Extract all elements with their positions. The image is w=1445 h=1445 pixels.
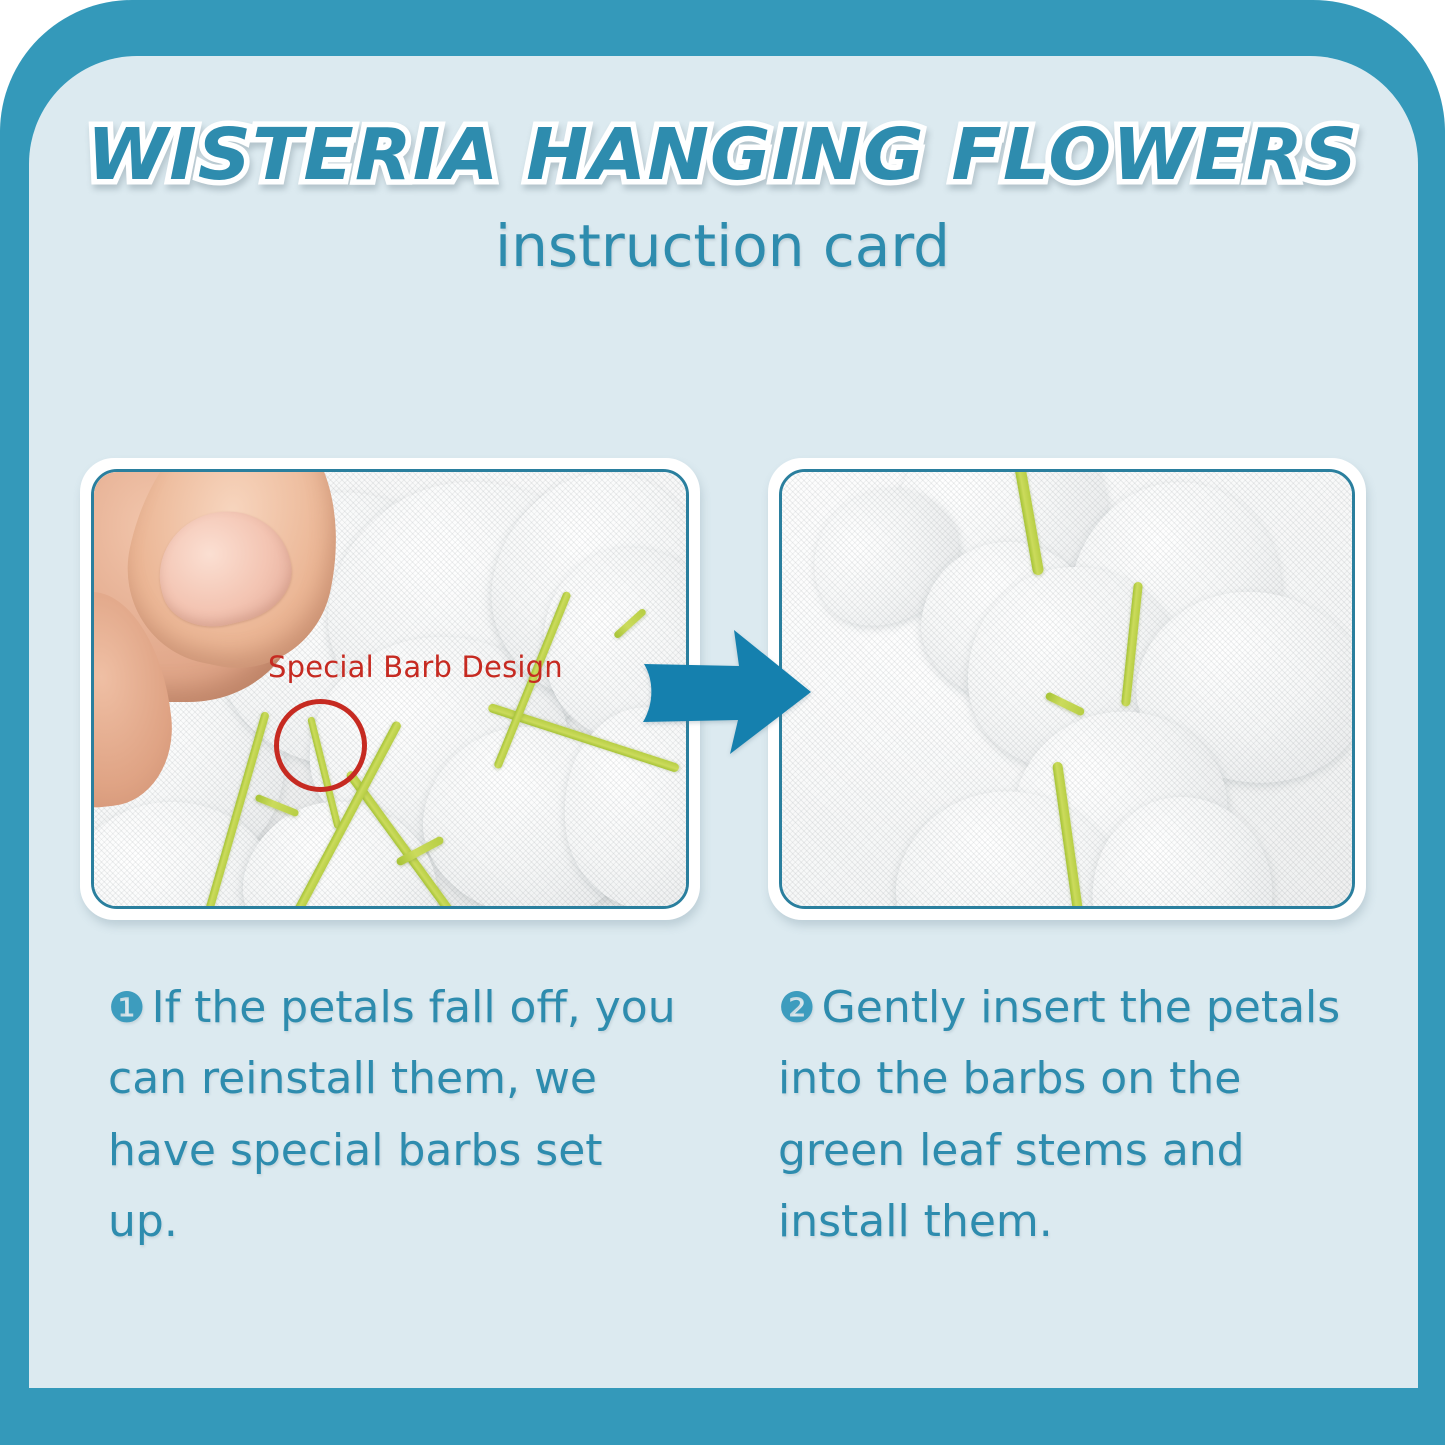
instruction-step-1: ❶If the petals fall off, you can reinsta… (108, 972, 678, 1257)
page-title: Wisteria Hanging Flowers (0, 118, 1445, 193)
photo-installed-petals-image (779, 469, 1355, 909)
card-header: Wisteria Hanging Flowers instruction car… (0, 118, 1445, 278)
step-text-2: Gently insert the petals into the barbs … (778, 982, 1340, 1247)
step-number-badge-2: ❷ (778, 983, 816, 1032)
instruction-card: Wisteria Hanging Flowers instruction car… (0, 0, 1445, 1445)
photo-barb-closeup-image: Special Barb Design (91, 469, 689, 909)
photo-installed-petals (768, 458, 1366, 920)
barb-highlight-circle (274, 699, 367, 792)
right-arrow-icon (640, 628, 815, 756)
photo-barb-closeup: Special Barb Design (80, 458, 700, 920)
step-number-badge-1: ❶ (108, 983, 146, 1032)
step-text-1: If the petals fall off, you can reinstal… (108, 982, 676, 1247)
page-subtitle: instruction card (0, 215, 1445, 279)
barb-annotation-label: Special Barb Design (268, 650, 563, 684)
instruction-step-2: ❷Gently insert the petals into the barbs… (778, 972, 1358, 1257)
